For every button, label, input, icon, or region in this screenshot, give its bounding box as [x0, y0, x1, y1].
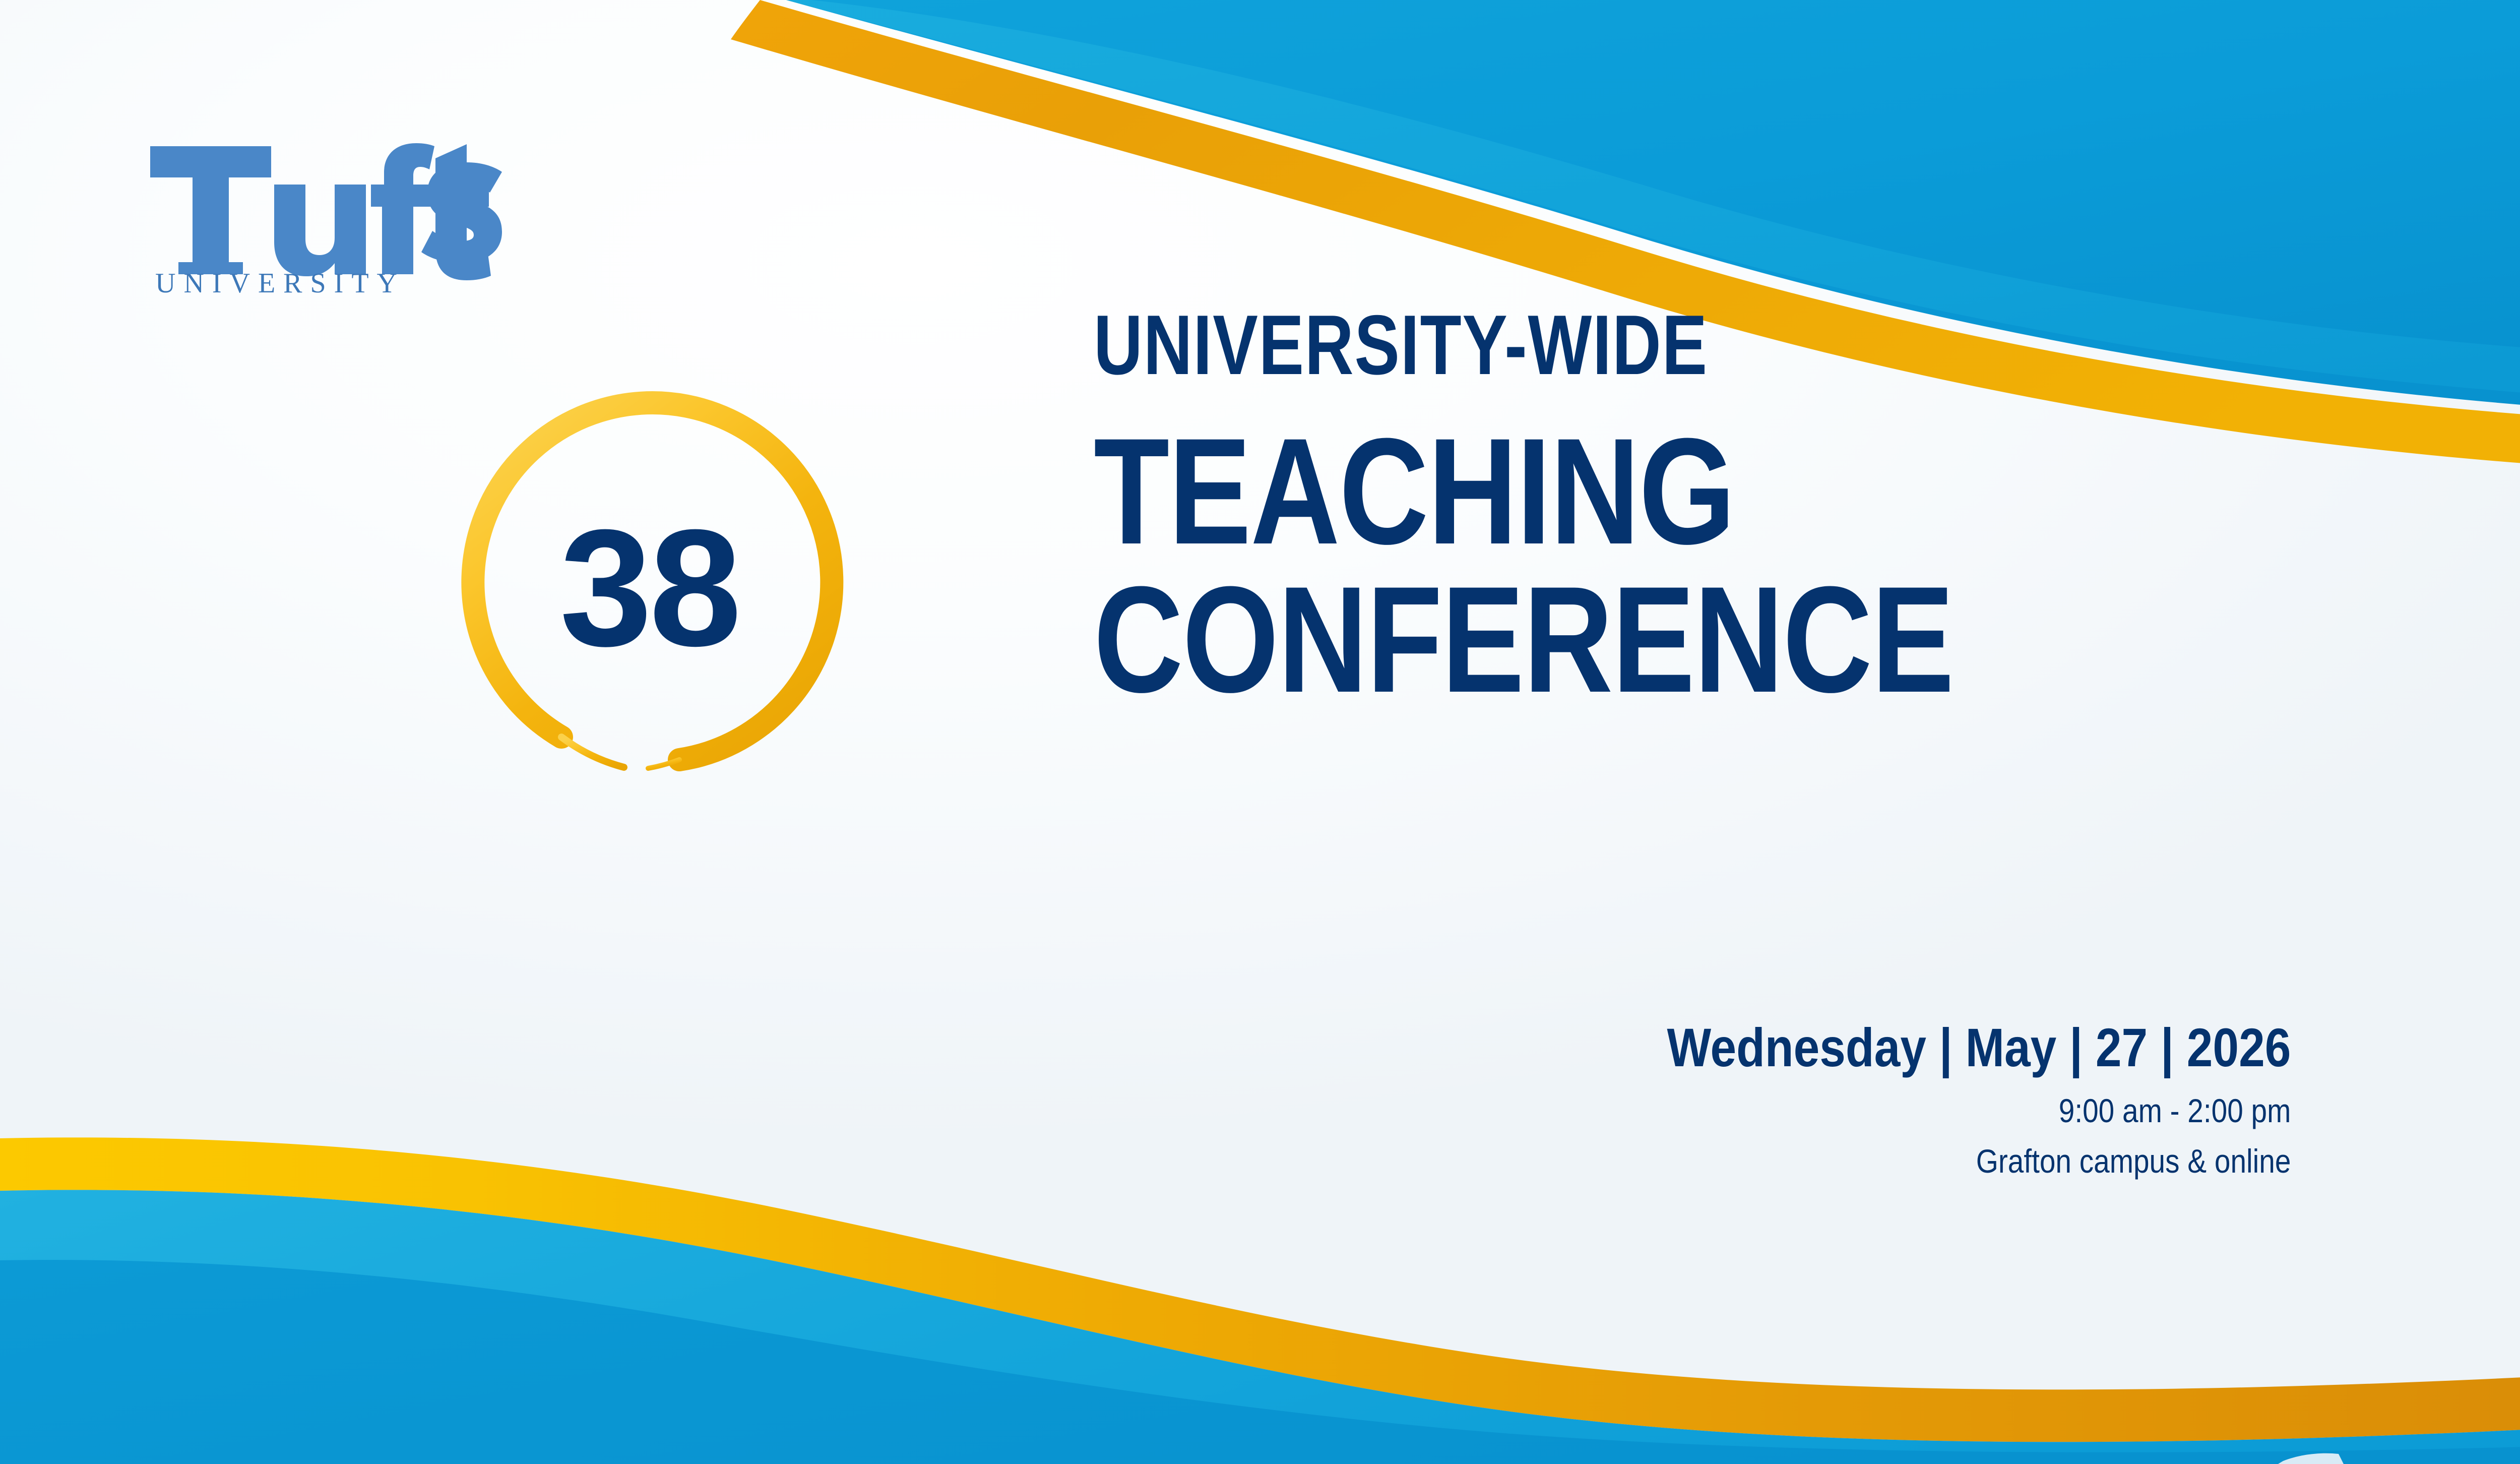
tufts-logo: UNIVERSITY	[147, 132, 510, 298]
badge-number: 38	[443, 384, 856, 798]
title-line-teaching: TEACHING	[1094, 418, 2094, 564]
conference-banner: UNIVERSITY 38 UNIVERSITY-WIDE TEACHING	[0, 0, 2520, 1464]
edition-number-badge: 38	[443, 384, 856, 798]
event-time: 9:00 am - 2:00 pm	[1667, 1092, 2291, 1129]
headline-block: UNIVERSITY-WIDE TEACHING CONFERENCE	[1094, 302, 2313, 712]
svg-text:UNIVERSITY: UNIVERSITY	[155, 268, 405, 298]
title-line-conference: CONFERENCE	[1094, 567, 2094, 712]
event-details-block: Wednesday | May | 27 | 2026 9:00 am - 2:…	[1565, 1018, 2291, 1180]
eyebrow-text: UNIVERSITY-WIDE	[1094, 302, 2069, 387]
event-date: Wednesday | May | 27 | 2026	[1667, 1018, 2291, 1077]
event-location: Grafton campus & online	[1667, 1143, 2291, 1180]
